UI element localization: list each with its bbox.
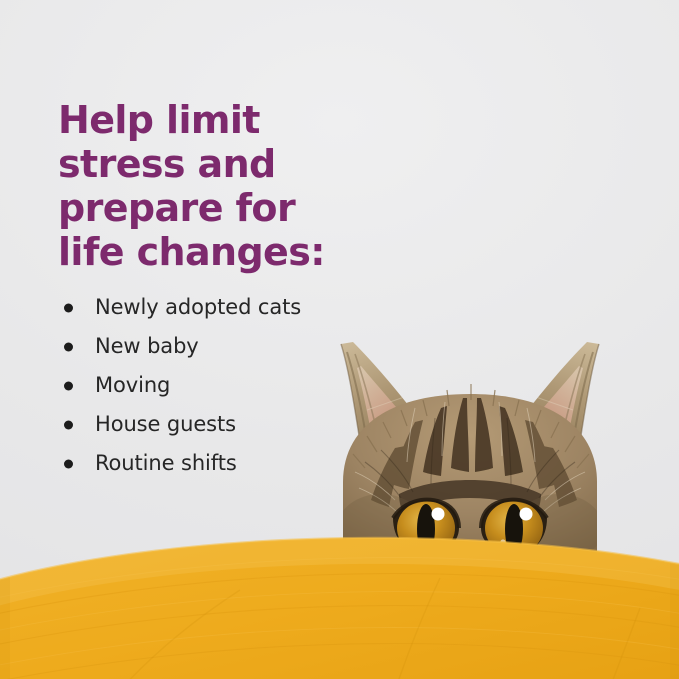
page-title: Help limit stress and prepare for life c…	[58, 98, 388, 274]
list-item-label: Routine shifts	[95, 451, 237, 475]
bullet-dot-icon	[64, 303, 73, 312]
tabby-cat-image	[295, 322, 645, 562]
list-item-label: House guests	[95, 412, 236, 436]
bullet-dot-icon	[64, 459, 73, 468]
list-item-label: New baby	[95, 334, 199, 358]
list-item-label: Newly adopted cats	[95, 295, 301, 319]
bullet-dot-icon	[64, 342, 73, 351]
bullet-dot-icon	[64, 420, 73, 429]
poster-canvas: Help limit stress and prepare for life c…	[0, 0, 679, 679]
list-item-label: Moving	[95, 373, 170, 397]
bullet-dot-icon	[64, 381, 73, 390]
